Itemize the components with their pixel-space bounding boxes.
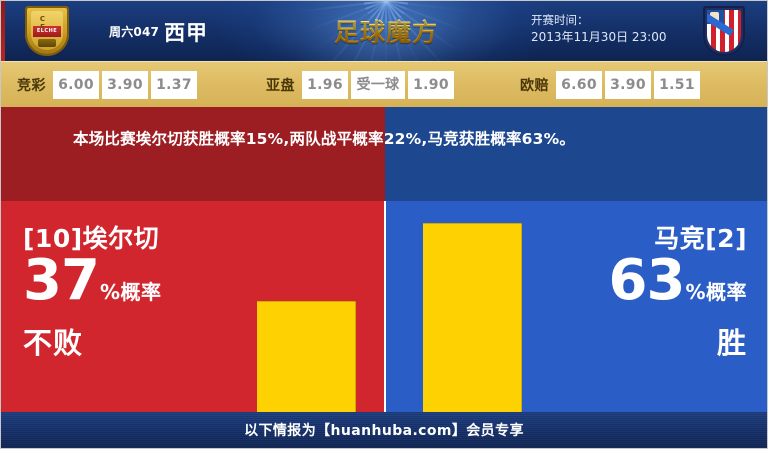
header-bar: C F ELCHE 周六047西甲 足球魔方 开赛时间： 2013年11月30日… [1,1,767,61]
header-left-accent [1,1,5,61]
banner-summary-text: 本场比赛埃尔切获胜概率15%,两队战平概率22%,马竞获胜概率63%。 [73,125,727,153]
away-probability-suffix: %概率 [685,280,747,304]
odds-bar: 竞彩 6.00 3.90 1.37 亚盘 1.96 受一球 1.90 欧赔 6.… [1,61,767,107]
odds-cell-away[interactable]: 1.37 [151,71,197,99]
probability-chart: [10]埃尔切 37%概率 不败 马竞[2] 63%概率 胜 [1,201,767,412]
odds-cell-home[interactable]: 1.96 [302,71,348,99]
crest-shield-shape [703,6,745,56]
odds-group-label: 欧赔 [520,75,549,95]
home-team-panel: [10]埃尔切 37%概率 不败 [1,201,384,412]
brand-logo[interactable]: 足球魔方 [327,11,445,51]
away-probability-value: 63 [609,248,685,313]
home-team-block: [10]埃尔切 37%概率 不败 [23,223,161,362]
match-probability-infographic: C F ELCHE 周六047西甲 足球魔方 开赛时间： 2013年11月30日… [0,0,768,449]
footer-notice-text: 以下情报为【huanhuba.com】会员专享 [244,420,524,440]
crest-club-text: ELCHE [29,28,65,34]
away-team-block: 马竞[2] 63%概率 胜 [609,223,747,362]
home-verdict: 不败 [23,324,161,362]
home-probability-bar [257,301,356,412]
odds-cell-home[interactable]: 6.60 [556,71,602,99]
odds-cell-away[interactable]: 1.90 [408,71,454,99]
match-round-number: 周六047 [109,25,159,39]
crest-base-shape [38,39,56,47]
odds-cell-home[interactable]: 6.00 [53,71,99,99]
home-probability-line: 37%概率 [23,253,161,322]
away-probability-line: 63%概率 [609,253,747,322]
odds-cell-away[interactable]: 1.51 [654,71,700,99]
home-probability-value: 37 [23,248,99,313]
banner-right-half [385,107,767,201]
odds-cell-draw[interactable]: 3.90 [605,71,651,99]
kickoff-datetime: 2013年11月30日 23:00 [531,29,666,46]
odds-group-label: 竞彩 [17,75,46,95]
odds-group-asian-handicap: 亚盘 1.96 受一球 1.90 [266,71,457,99]
crest-stripes-shape [707,10,741,52]
kickoff-info: 开赛时间： 2013年11月30日 23:00 [531,12,666,46]
summary-banner: 本场比赛埃尔切获胜概率15%,两队战平概率22%,马竞获胜概率63%。 [1,107,767,201]
kickoff-label: 开赛时间： [531,12,666,29]
league-name: 西甲 [164,21,208,45]
atletico-madrid-crest-icon [703,6,745,56]
away-probability-bar [423,223,522,412]
league-label: 周六047西甲 [109,17,208,47]
odds-group-jingcai: 竞彩 6.00 3.90 1.37 [17,71,200,99]
elche-crest-icon: C F ELCHE [25,6,69,56]
away-team-panel: 马竞[2] 63%概率 胜 [386,201,767,412]
odds-group-european: 欧赔 6.60 3.90 1.51 [520,71,703,99]
home-probability-suffix: %概率 [100,280,162,304]
odds-cell-handicap[interactable]: 受一球 [351,71,405,99]
banner-left-half [1,107,385,201]
odds-group-label: 亚盘 [266,75,295,95]
away-verdict: 胜 [609,324,747,362]
footer-bar: 以下情报为【huanhuba.com】会员专享 [1,412,767,448]
brand-logo-text: 足球魔方 [334,13,438,49]
odds-cell-draw[interactable]: 3.90 [102,71,148,99]
